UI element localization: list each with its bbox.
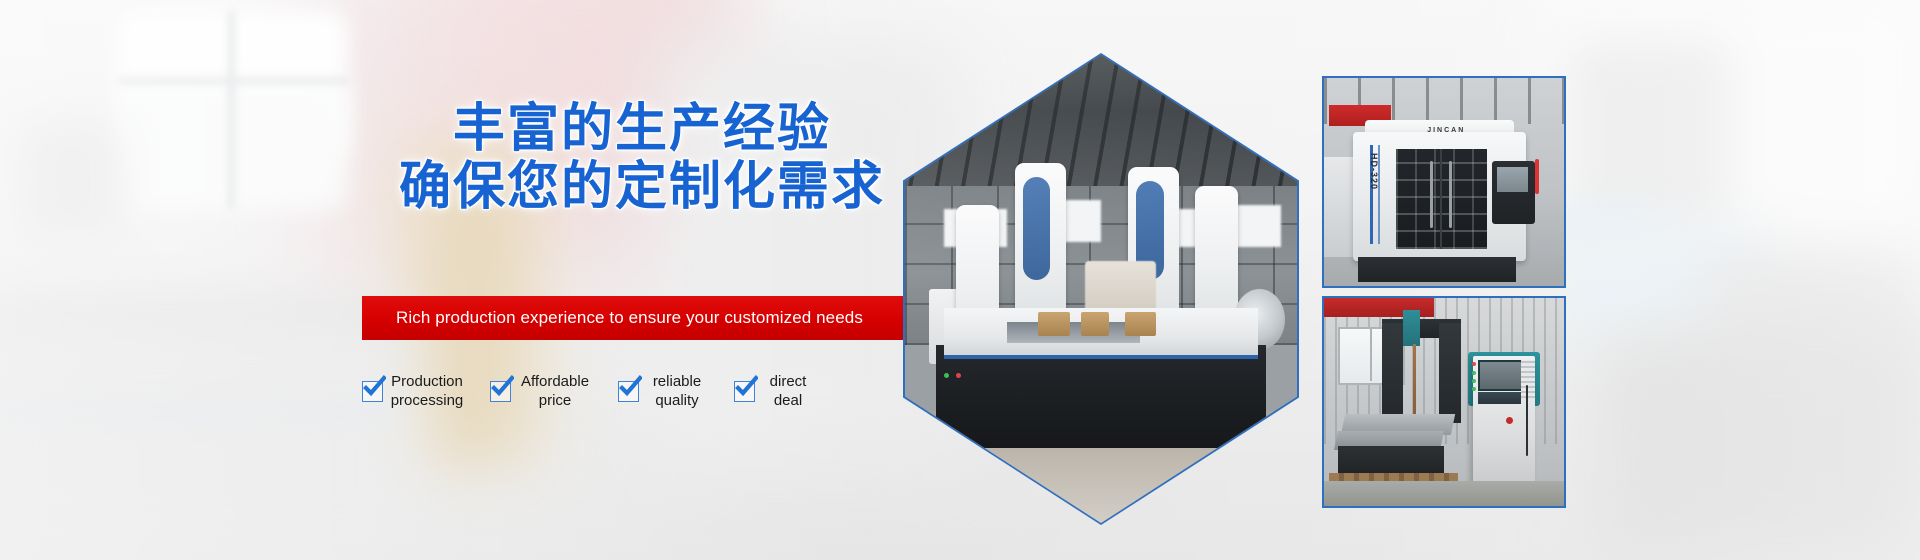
hexagon-photo — [905, 55, 1297, 523]
feature-item-production-processing[interactable]: Production processing — [362, 372, 464, 410]
feature-item-affordable-price[interactable]: Affordable price — [490, 372, 592, 410]
checkbox-checked-icon[interactable] — [618, 381, 639, 402]
hero-banner: 丰富的生产经验 确保您的定制化需求 Rich production experi… — [0, 0, 1920, 560]
feature-label: Affordable price — [518, 372, 592, 410]
checkbox-checked-icon[interactable] — [734, 381, 755, 402]
feature-label: Production processing — [390, 372, 464, 410]
subtitle-text: Rich production experience to ensure you… — [362, 308, 863, 328]
headline-line-2: 确保您的定制化需求 — [362, 158, 922, 216]
feature-item-direct-deal[interactable]: direct deal — [734, 372, 814, 410]
hexagon-border — [903, 53, 1299, 525]
page-title: 丰富的生产经验 确保您的定制化需求 — [362, 100, 922, 216]
thumbnail-machining-center[interactable]: JINCAN HD-320 — [1322, 76, 1566, 288]
checkbox-checked-icon[interactable] — [490, 381, 511, 402]
headline-block: 丰富的生产经验 确保您的定制化需求 — [362, 100, 922, 216]
feature-item-reliable-quality[interactable]: reliable quality — [618, 372, 708, 410]
feature-label: direct deal — [762, 372, 814, 410]
thumbnail-brand-text: JINCAN — [1427, 127, 1465, 134]
thumbnail-drilling-machine[interactable] — [1322, 296, 1566, 508]
machine-model-label: HD-320 — [1369, 153, 1379, 190]
feature-list: Production processing Affordable price r… — [362, 372, 907, 428]
subtitle-red-bar: Rich production experience to ensure you… — [362, 296, 907, 340]
headline-line-1: 丰富的生产经验 — [362, 100, 922, 158]
hero-hexagon-image[interactable] — [903, 53, 1299, 525]
feature-label: reliable quality — [646, 372, 708, 410]
checkbox-checked-icon[interactable] — [362, 381, 383, 402]
